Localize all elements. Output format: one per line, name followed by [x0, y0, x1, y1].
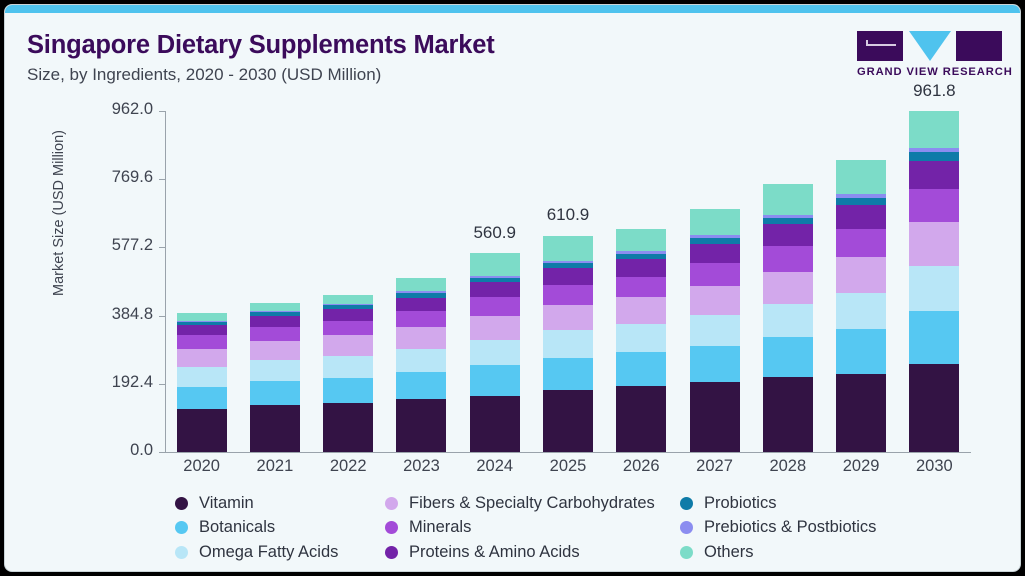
- bar-segment[interactable]: [543, 358, 593, 390]
- legend-item[interactable]: Botanicals: [175, 516, 275, 540]
- x-axis-line: [165, 452, 971, 453]
- bar-segment[interactable]: [543, 236, 593, 261]
- legend-swatch-icon: [175, 546, 188, 559]
- bar-segment[interactable]: [250, 327, 300, 341]
- bar-segment[interactable]: [616, 259, 666, 277]
- legend-item[interactable]: Prebiotics & Postbiotics: [680, 516, 876, 540]
- legend-item[interactable]: Vitamin: [175, 491, 254, 515]
- x-tick-label: 2025: [533, 457, 603, 476]
- logo-rect-right-icon: [956, 31, 1002, 61]
- screenshot-frame: Singapore Dietary Supplements Market Siz…: [0, 0, 1025, 576]
- bar-segment[interactable]: [396, 278, 446, 291]
- legend-label: Probiotics: [704, 494, 776, 513]
- bar-segment[interactable]: [909, 222, 959, 266]
- bar-segment[interactable]: [836, 160, 886, 194]
- legend-label: Minerals: [409, 518, 471, 537]
- y-tick-label: 577.2: [65, 236, 153, 255]
- bar-segment[interactable]: [836, 329, 886, 374]
- bar-segment[interactable]: [909, 152, 959, 161]
- bar-segment[interactable]: [836, 229, 886, 257]
- legend-label: Proteins & Amino Acids: [409, 543, 580, 562]
- accent-top-bar: [5, 5, 1020, 13]
- legend-label: Others: [704, 543, 754, 562]
- bar-segment[interactable]: [250, 341, 300, 360]
- bar-segment[interactable]: [250, 405, 300, 452]
- bar-segment[interactable]: [323, 356, 373, 378]
- bar-segment[interactable]: [763, 337, 813, 377]
- legend-label: Fibers & Specialty Carbohydrates: [409, 494, 655, 513]
- bar-segment[interactable]: [836, 293, 886, 330]
- bar-segment[interactable]: [323, 335, 373, 355]
- bar-segment[interactable]: [470, 282, 520, 297]
- bar-segment[interactable]: [690, 244, 740, 263]
- logo-rect-left-icon: [857, 31, 903, 61]
- bar-segment[interactable]: [690, 209, 740, 235]
- bar-segment[interactable]: [616, 324, 666, 352]
- bar-segment[interactable]: [470, 365, 520, 396]
- bar-2028[interactable]: [763, 184, 813, 452]
- bar-segment[interactable]: [690, 286, 740, 315]
- bar-segment[interactable]: [470, 316, 520, 340]
- legend-label: Omega Fatty Acids: [199, 543, 338, 562]
- bar-segment[interactable]: [177, 313, 227, 320]
- bar-segment[interactable]: [177, 367, 227, 387]
- grand-view-research-logo: GRAND VIEW RESEARCH: [857, 31, 1005, 79]
- x-tick-label: 2022: [313, 457, 383, 476]
- bar-value-label: 610.9: [522, 205, 614, 225]
- y-tick-label: 192.4: [65, 373, 153, 392]
- logo-wordmark: GRAND VIEW RESEARCH: [857, 66, 1005, 78]
- bar-segment[interactable]: [616, 297, 666, 324]
- legend-swatch-icon: [680, 521, 693, 534]
- legend-item[interactable]: Proteins & Amino Acids: [385, 540, 580, 564]
- bar-segment[interactable]: [250, 381, 300, 404]
- bar-segment[interactable]: [177, 387, 227, 409]
- bar-2026[interactable]: [616, 229, 666, 452]
- legend-item[interactable]: Probiotics: [680, 491, 776, 515]
- bar-segment[interactable]: [396, 311, 446, 327]
- bar-segment[interactable]: [543, 268, 593, 285]
- bar-segment[interactable]: [396, 372, 446, 399]
- bar-segment[interactable]: [177, 349, 227, 367]
- legend-label: Vitamin: [199, 494, 254, 513]
- page-subtitle: Size, by Ingredients, 2020 - 2030 (USD M…: [27, 65, 381, 85]
- bar-2020[interactable]: [177, 313, 227, 452]
- bar-segment[interactable]: [470, 297, 520, 315]
- bar-segment[interactable]: [177, 409, 227, 452]
- x-tick-label: 2028: [753, 457, 823, 476]
- bar-segment[interactable]: [177, 335, 227, 348]
- bar-segment[interactable]: [470, 396, 520, 452]
- y-tick-label: 384.8: [65, 305, 153, 324]
- bar-segment[interactable]: [836, 205, 886, 229]
- legend-swatch-icon: [680, 546, 693, 559]
- x-tick-label: 2026: [606, 457, 676, 476]
- bar-segment[interactable]: [763, 272, 813, 304]
- bar-segment[interactable]: [250, 316, 300, 327]
- bar-segment[interactable]: [250, 303, 300, 311]
- legend-swatch-icon: [385, 521, 398, 534]
- bar-segment[interactable]: [836, 374, 886, 452]
- x-tick-label: 2024: [460, 457, 530, 476]
- bar-segment[interactable]: [323, 403, 373, 452]
- bar-segment[interactable]: [763, 246, 813, 271]
- y-tick-mark: [159, 452, 166, 453]
- page-title: Singapore Dietary Supplements Market: [27, 31, 495, 60]
- bar-2027[interactable]: [690, 209, 740, 452]
- bar-segment[interactable]: [396, 399, 446, 452]
- bar-2021[interactable]: [250, 303, 300, 452]
- legend-item[interactable]: Fibers & Specialty Carbohydrates: [385, 491, 655, 515]
- x-tick-label: 2027: [680, 457, 750, 476]
- bar-segment[interactable]: [396, 327, 446, 349]
- bar-segment[interactable]: [909, 111, 959, 147]
- legend-swatch-icon: [175, 521, 188, 534]
- bar-segment[interactable]: [909, 161, 959, 189]
- bar-segment[interactable]: [396, 349, 446, 372]
- x-tick-label: 2030: [899, 457, 969, 476]
- bar-segment[interactable]: [763, 184, 813, 215]
- bar-segment[interactable]: [323, 295, 373, 304]
- x-tick-label: 2023: [386, 457, 456, 476]
- bar-value-label: 961.8: [888, 81, 980, 101]
- x-tick-label: 2029: [826, 457, 896, 476]
- logo-triangle-icon: [909, 31, 951, 61]
- bar-segment[interactable]: [470, 253, 520, 275]
- plot-area: [165, 111, 971, 452]
- bar-segment[interactable]: [250, 360, 300, 381]
- bar-segment[interactable]: [323, 309, 373, 321]
- bar-segment[interactable]: [323, 378, 373, 403]
- y-tick-label: 769.6: [65, 168, 153, 187]
- bar-value-label: 560.9: [449, 223, 541, 243]
- legend-label: Botanicals: [199, 518, 275, 537]
- bar-segment[interactable]: [616, 277, 666, 297]
- bar-segment[interactable]: [690, 263, 740, 285]
- bar-segment[interactable]: [543, 305, 593, 331]
- bar-segment[interactable]: [909, 189, 959, 222]
- chart-legend: VitaminBotanicalsOmega Fatty AcidsFibers…: [175, 491, 1015, 563]
- logo-line-left-icon: [866, 44, 896, 46]
- legend-item[interactable]: Others: [680, 540, 754, 564]
- legend-swatch-icon: [680, 497, 693, 510]
- bar-segment[interactable]: [690, 382, 740, 452]
- bar-segment[interactable]: [836, 257, 886, 292]
- bar-segment[interactable]: [690, 315, 740, 346]
- legend-swatch-icon: [385, 497, 398, 510]
- bar-segment[interactable]: [909, 266, 959, 311]
- bar-segment[interactable]: [470, 340, 520, 365]
- bar-segment[interactable]: [323, 321, 373, 336]
- y-tick-label: 962.0: [65, 100, 153, 119]
- bar-segment[interactable]: [543, 390, 593, 452]
- bar-segment[interactable]: [909, 364, 959, 452]
- bar-segment[interactable]: [763, 304, 813, 338]
- chart-card: Singapore Dietary Supplements Market Siz…: [5, 5, 1020, 571]
- legend-swatch-icon: [385, 546, 398, 559]
- bar-2029[interactable]: [836, 160, 886, 452]
- bar-segment[interactable]: [616, 352, 666, 386]
- bar-segment[interactable]: [396, 298, 446, 311]
- legend-label: Prebiotics & Postbiotics: [704, 518, 876, 537]
- x-tick-label: 2020: [167, 457, 237, 476]
- bar-2022[interactable]: [323, 295, 373, 452]
- bar-2024[interactable]: [470, 253, 520, 452]
- bar-segment[interactable]: [763, 377, 813, 452]
- bar-segment[interactable]: [616, 229, 666, 251]
- bar-segment[interactable]: [836, 198, 886, 205]
- bar-segment[interactable]: [763, 224, 813, 246]
- bar-2030[interactable]: [909, 111, 959, 452]
- legend-item[interactable]: Omega Fatty Acids: [175, 540, 338, 564]
- y-tick-label: 0.0: [65, 441, 153, 460]
- bar-segment[interactable]: [763, 218, 813, 225]
- legend-item[interactable]: Minerals: [385, 516, 471, 540]
- bar-segment[interactable]: [690, 346, 740, 382]
- bar-2023[interactable]: [396, 278, 446, 452]
- bar-2025[interactable]: [543, 236, 593, 452]
- legend-swatch-icon: [175, 497, 188, 510]
- bar-segment[interactable]: [616, 386, 666, 452]
- bar-segment[interactable]: [177, 325, 227, 335]
- bar-segment[interactable]: [543, 285, 593, 304]
- x-tick-label: 2021: [240, 457, 310, 476]
- bar-segment[interactable]: [909, 311, 959, 364]
- bar-segment[interactable]: [543, 330, 593, 357]
- logo-tick-left-icon: [866, 40, 868, 46]
